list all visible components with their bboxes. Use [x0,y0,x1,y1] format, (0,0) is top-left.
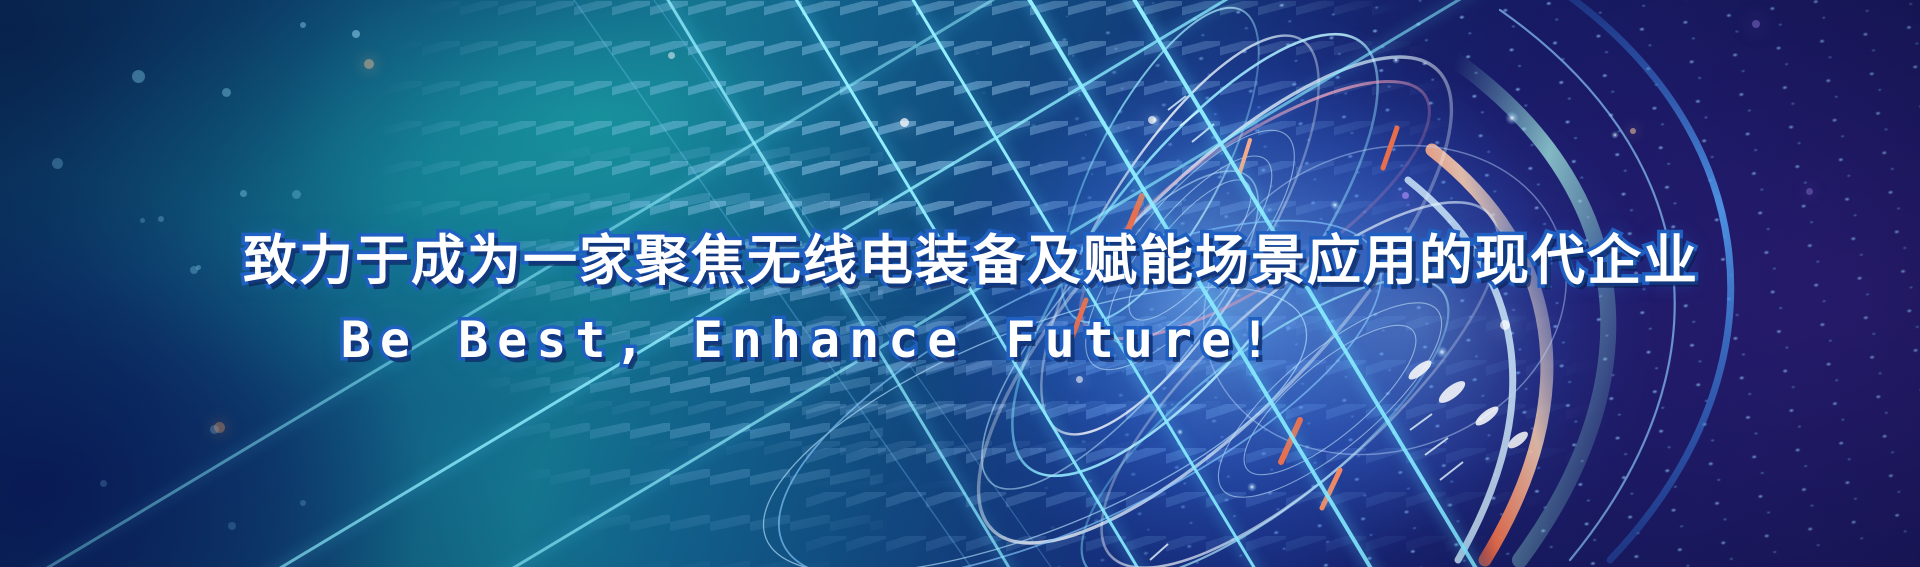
headline-chinese: 致力于成为一家聚焦无线电装备及赋能场景应用的现代企业 [0,232,1920,290]
hero-text-block: 致力于成为一家聚焦无线电装备及赋能场景应用的现代企业 Be Best, Enha… [0,232,1920,370]
hero-banner: 致力于成为一家聚焦无线电装备及赋能场景应用的现代企业 Be Best, Enha… [0,0,1920,567]
headline-english: Be Best, Enhance Future! [0,312,1768,370]
